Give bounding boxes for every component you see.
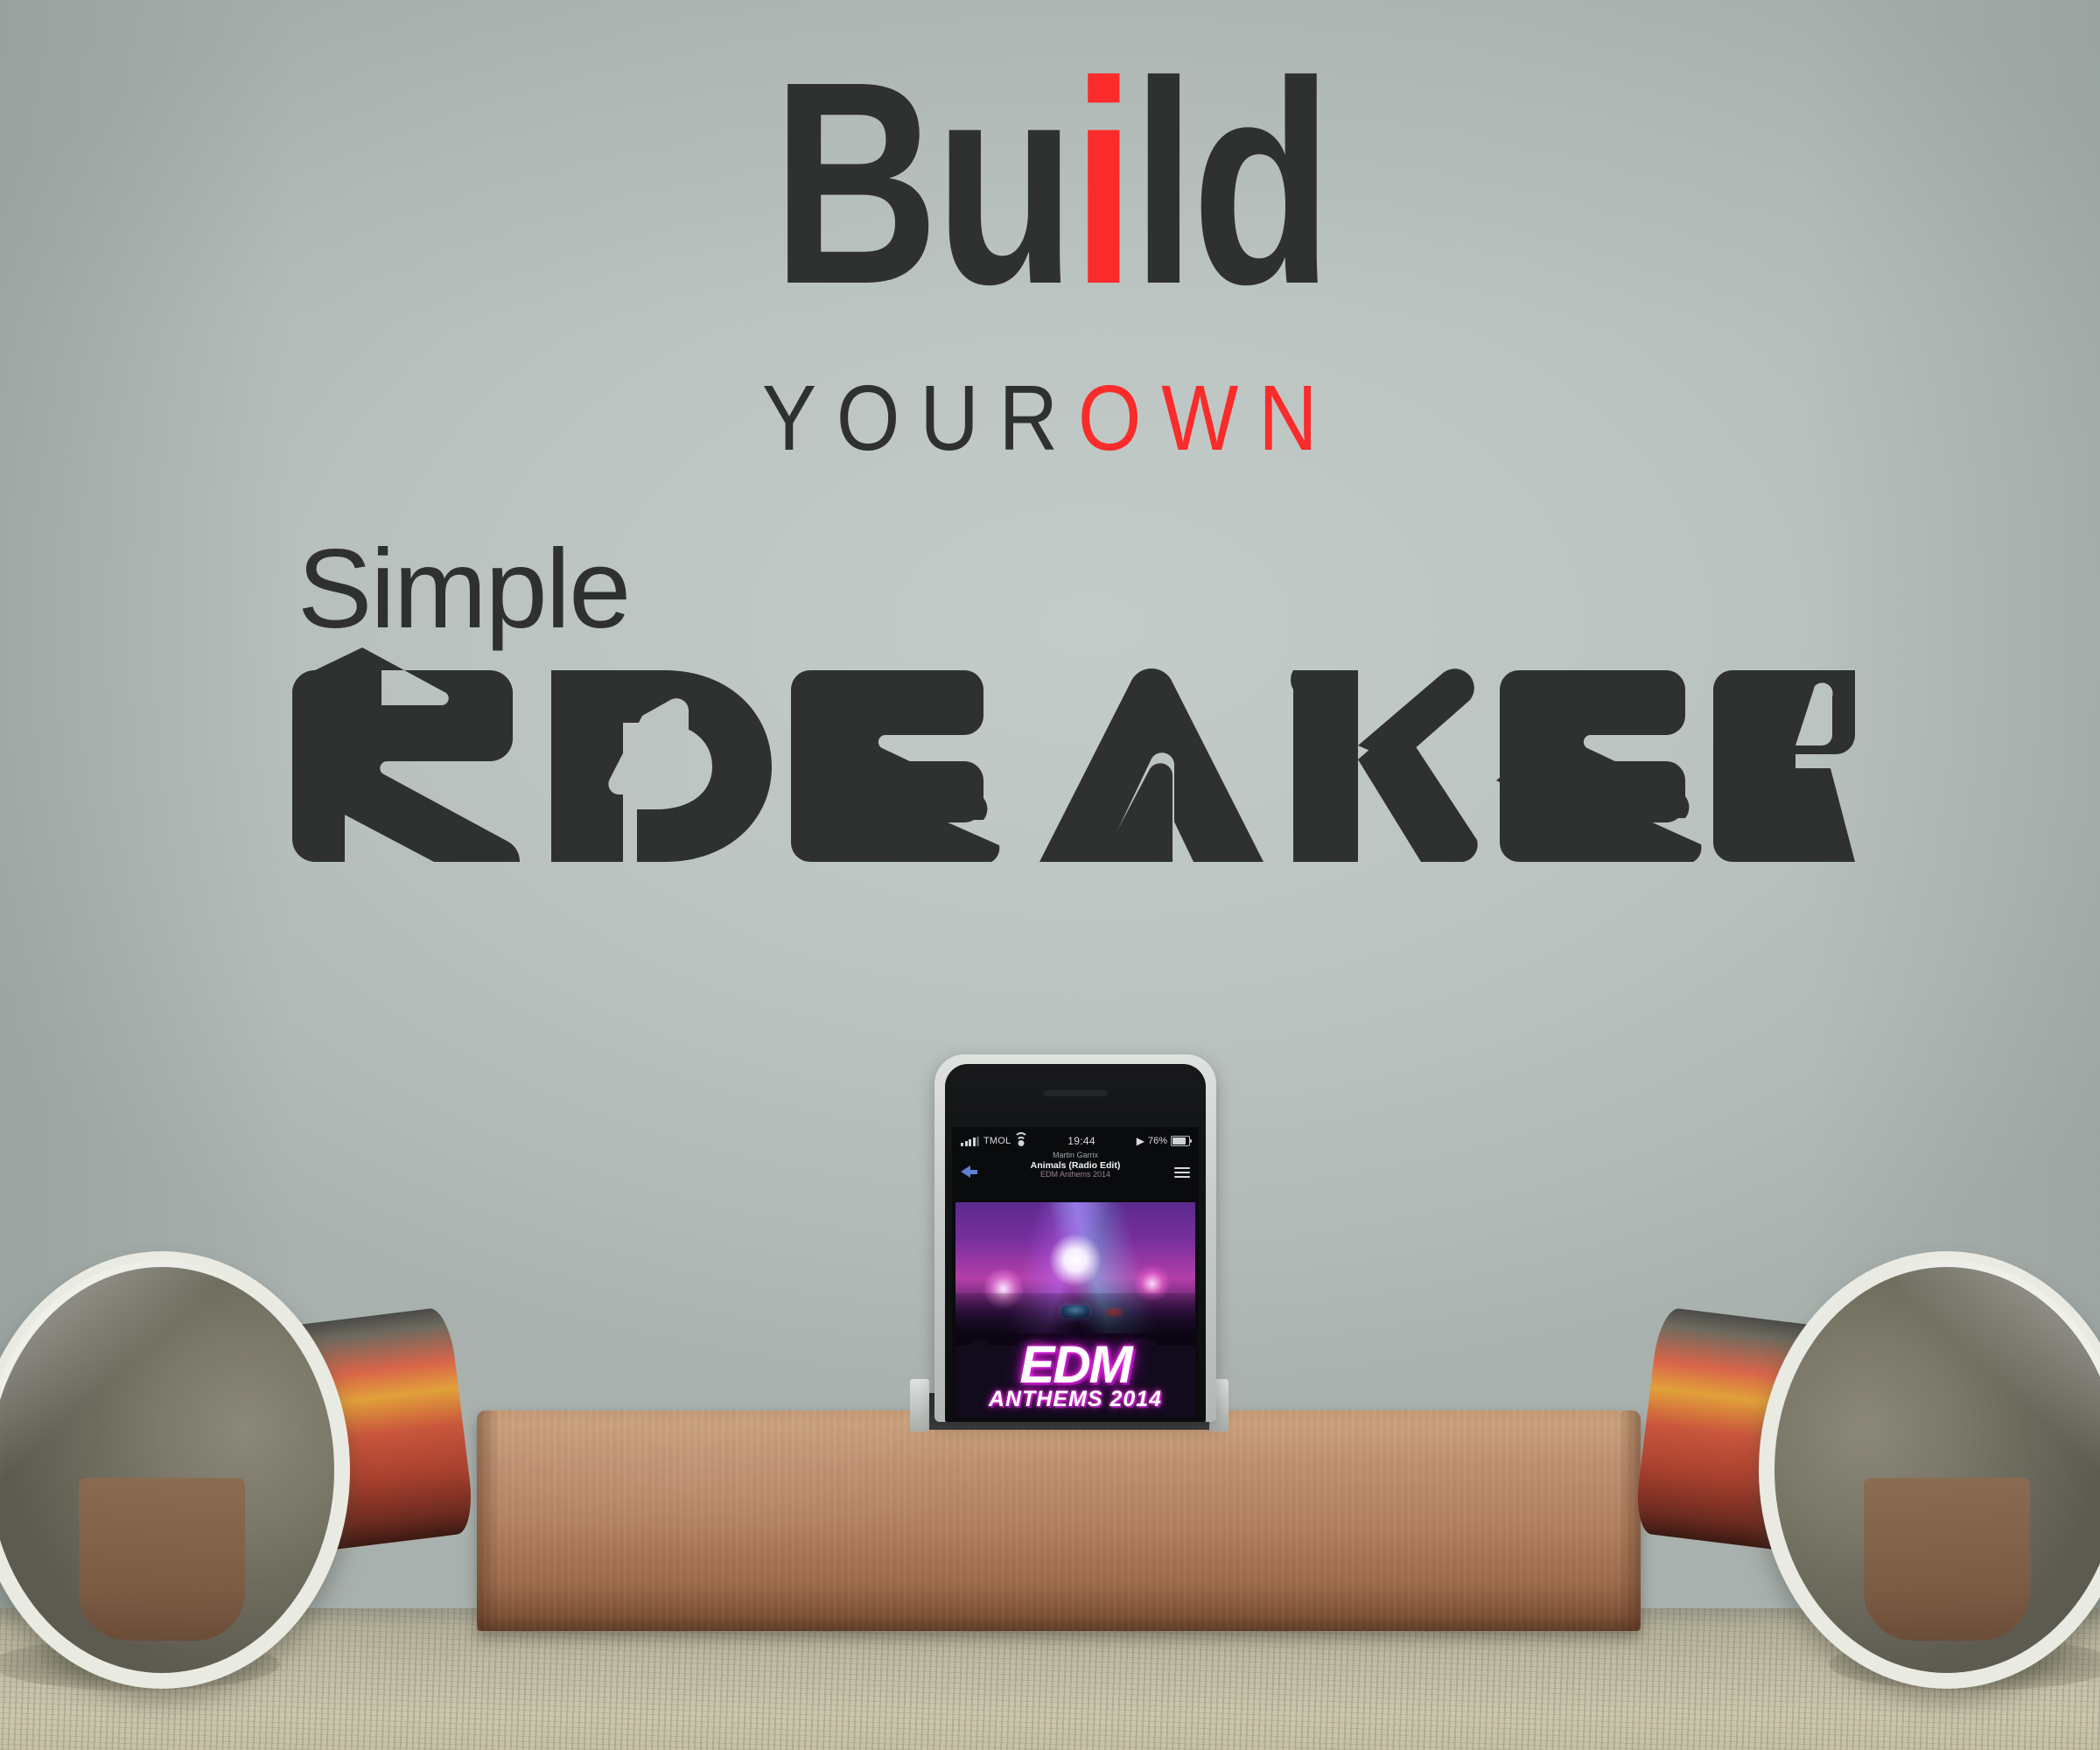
carrier-label: TMOL [983, 1136, 1011, 1146]
album-art-title-anthems: ANTHEMS 2014 [955, 1389, 1195, 1410]
smartphone[interactable]: TMOL 19:44 ▶ 76% [934, 1054, 1216, 1422]
status-bar: TMOL 19:44 ▶ 76% [952, 1132, 1199, 1150]
now-playing-header: Martin Garrix Animals (Radio Edit) EDM A… [952, 1151, 1199, 1197]
play-indicator-icon: ▶ [1137, 1136, 1144, 1146]
album-artwork[interactable]: EDM ANTHEMS 2014 [955, 1202, 1195, 1417]
cup-right-mouth [1759, 1251, 2100, 1689]
wifi-icon [1015, 1137, 1026, 1146]
cardboard-texture [477, 1410, 1641, 1631]
status-bar-clock: 19:44 [1026, 1135, 1136, 1147]
cup-left-interior [0, 1267, 334, 1673]
cup-left-mouth [0, 1251, 350, 1689]
track-list-icon[interactable] [1174, 1167, 1190, 1177]
battery-icon [1171, 1136, 1190, 1146]
now-playing-album: EDM Anthems 2014 [952, 1171, 1199, 1179]
phone-slot-left-edge [910, 1379, 929, 1431]
paper-cup-horn-right [1592, 1227, 2100, 1750]
cup-left-tube-visible [79, 1478, 244, 1641]
phone-screen[interactable]: TMOL 19:44 ▶ 76% [952, 1127, 1199, 1422]
speaker-rig: TMOL 19:44 ▶ 76% [0, 0, 2100, 1750]
cardboard-tube [477, 1410, 1641, 1631]
cup-right-tube-visible [1864, 1478, 2029, 1641]
paper-cup-horn-left [0, 1227, 516, 1750]
album-art-title-edm: EDM [955, 1342, 1195, 1389]
back-arrow-tail [969, 1170, 977, 1174]
phone-earpiece-speaker [1043, 1090, 1108, 1096]
now-playing-artist: Martin Garrix [952, 1151, 1199, 1160]
phone-bezel: TMOL 19:44 ▶ 76% [945, 1064, 1206, 1422]
signal-strength-icon [961, 1137, 979, 1146]
album-art-title-block: EDM ANTHEMS 2014 [955, 1342, 1195, 1410]
battery-percent-label: 76% [1148, 1136, 1167, 1146]
poster-canvas: Build YOUROWN Simple SPEAKER [0, 0, 2100, 1750]
cup-right-interior [1774, 1267, 2100, 1673]
